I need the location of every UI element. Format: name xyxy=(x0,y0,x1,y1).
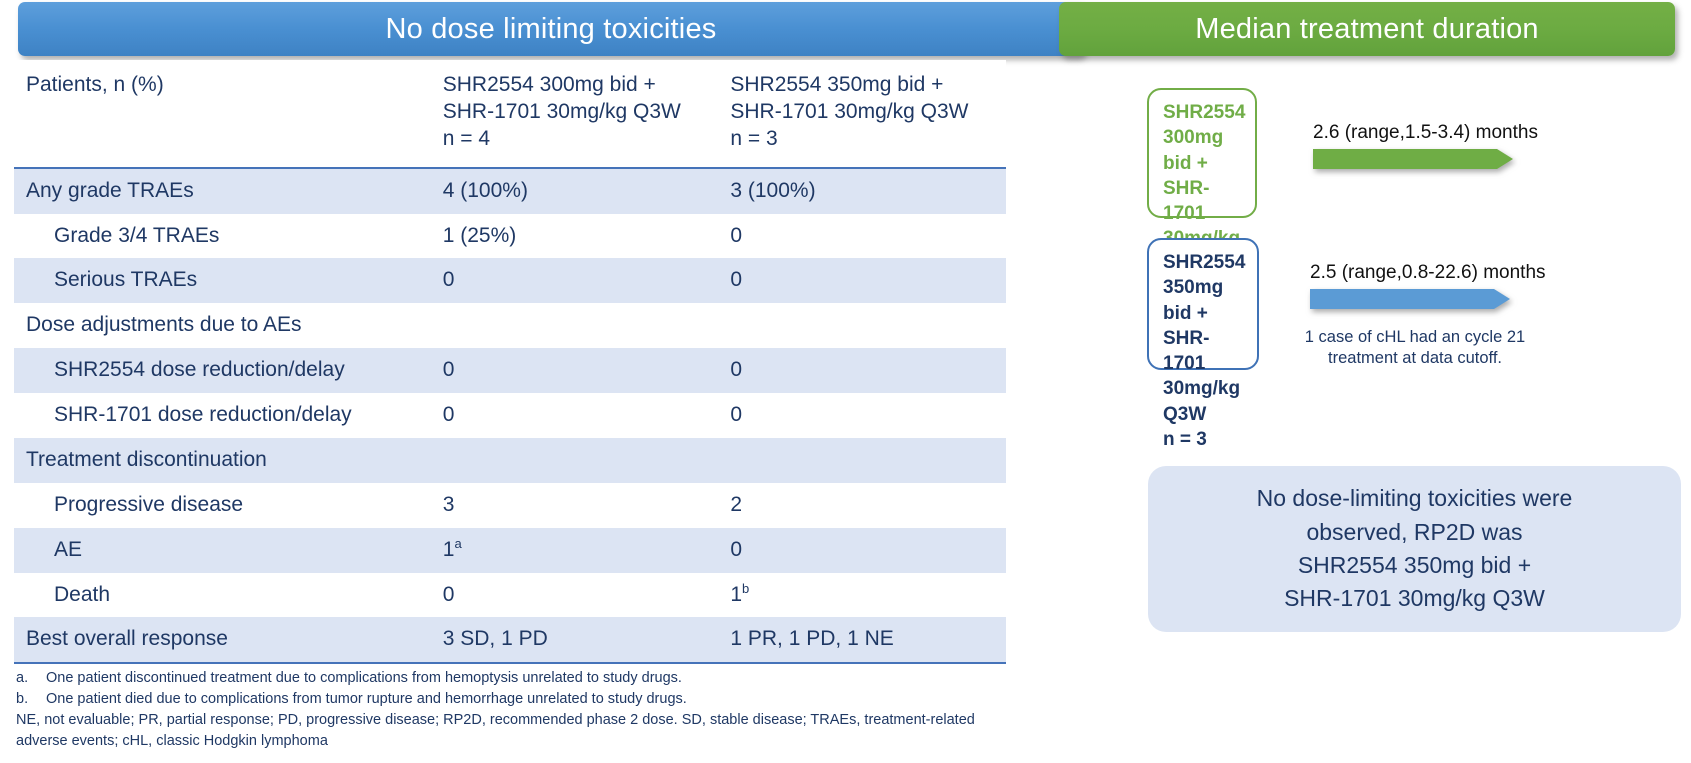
row-label: Best overall response xyxy=(14,617,431,663)
row-arm1: 0 xyxy=(431,393,719,438)
row-arm2 xyxy=(718,303,1006,348)
row-label: Grade 3/4 TRAEs xyxy=(14,214,431,259)
arm2-dose-box: SHR2554 350mg bid + SHR-1701 30mg/kg Q3W… xyxy=(1147,238,1259,370)
footnote-b-text: One patient died due to complications fr… xyxy=(46,689,687,710)
row-arm1: 3 xyxy=(431,483,719,528)
row-arm1: 1a xyxy=(431,528,719,573)
table-row: Death 0 1b xyxy=(14,573,1006,618)
row-arm1 xyxy=(431,438,719,483)
table-row: Serious TRAEs 0 0 xyxy=(14,258,1006,303)
slide-root: No dose limiting toxicities Median treat… xyxy=(0,0,1691,763)
table-col-label: Patients, n (%) xyxy=(14,60,431,168)
arm1-dose-line1: SHR2554 xyxy=(1163,100,1245,125)
row-label: SHR-1701 dose reduction/delay xyxy=(14,393,431,438)
conclusion-line3: SHR2554 350mg bid + xyxy=(1257,549,1573,582)
footnotes: a. One patient discontinued treatment du… xyxy=(16,668,1016,751)
row-arm2: 2 xyxy=(718,483,1006,528)
row-arm2: 1 PR, 1 PD, 1 NE xyxy=(718,617,1006,663)
row-arm1: 0 xyxy=(431,258,719,303)
table-col-arm1: SHR2554 300mg bid + SHR-1701 30mg/kg Q3W… xyxy=(431,60,719,168)
arm2-dose-line5: n = 3 xyxy=(1163,427,1247,452)
arm1-line3: n = 4 xyxy=(443,126,711,153)
table-row: SHR2554 dose reduction/delay 0 0 xyxy=(14,348,1006,393)
row-arm2: 0 xyxy=(718,348,1006,393)
row-label: Serious TRAEs xyxy=(14,258,431,303)
conclusion-text: No dose-limiting toxicities were observe… xyxy=(1257,482,1573,615)
right-panel-header: Median treatment duration xyxy=(1059,2,1675,56)
arm2-dose-line3: SHR-1701 xyxy=(1163,326,1247,377)
toxicity-table: Patients, n (%) SHR2554 300mg bid + SHR-… xyxy=(14,60,1006,664)
row-arm2: 0 xyxy=(718,214,1006,259)
table-row: Best overall response 3 SD, 1 PD 1 PR, 1… xyxy=(14,617,1006,663)
conclusion-line2: observed, RP2D was xyxy=(1257,516,1573,549)
row-label: Dose adjustments due to AEs xyxy=(14,303,431,348)
table-row: AE 1a 0 xyxy=(14,528,1006,573)
right-panel-title: Median treatment duration xyxy=(1195,13,1539,46)
row-label: AE xyxy=(14,528,431,573)
row-arm1 xyxy=(431,303,719,348)
conclusion-line1: No dose-limiting toxicities were xyxy=(1257,482,1573,515)
arm2-duration-note: 1 case of cHL had an cycle 21 treatment … xyxy=(1290,327,1540,370)
arm2-dose-line1: SHR2554 xyxy=(1163,250,1247,275)
footnote-a: a. One patient discontinued treatment du… xyxy=(16,668,1016,689)
row-arm1: 3 SD, 1 PD xyxy=(431,617,719,663)
footnote-a-marker: a. xyxy=(16,668,46,689)
arm1-line2: SHR-1701 30mg/kg Q3W xyxy=(443,99,711,126)
row-arm2: 0 xyxy=(718,528,1006,573)
row-arm2: 3 (100%) xyxy=(718,168,1006,214)
arm1-duration-label: 2.6 (range,1.5-3.4) months xyxy=(1313,122,1583,144)
table-row: SHR-1701 dose reduction/delay 0 0 xyxy=(14,393,1006,438)
row-arm1: 0 xyxy=(431,573,719,618)
conclusion-box: No dose-limiting toxicities were observe… xyxy=(1148,466,1681,632)
row-arm2: 1b xyxy=(718,573,1006,618)
row-label: Progressive disease xyxy=(14,483,431,528)
row-label: Treatment discontinuation xyxy=(14,438,431,483)
arm2-duration-label: 2.5 (range,0.8-22.6) months xyxy=(1310,262,1585,284)
arm2-line1: SHR2554 350mg bid + xyxy=(730,72,998,99)
arm1-duration-group: 2.6 (range,1.5-3.4) months xyxy=(1313,122,1583,169)
row-label: Any grade TRAEs xyxy=(14,168,431,214)
arm2-dose-line4: 30mg/kg Q3W xyxy=(1163,376,1247,427)
footnote-ref-a: a xyxy=(454,536,461,551)
footnote-ref-b: b xyxy=(742,581,749,596)
arm2-line2: SHR-1701 30mg/kg Q3W xyxy=(730,99,998,126)
left-panel-header: No dose limiting toxicities xyxy=(18,2,1084,56)
table-row: Grade 3/4 TRAEs 1 (25%) 0 xyxy=(14,214,1006,259)
row-arm1: 0 xyxy=(431,348,719,393)
row-label: Death xyxy=(14,573,431,618)
row-arm2 xyxy=(718,438,1006,483)
footnote-b-marker: b. xyxy=(16,689,46,710)
arm1-dose-line2: 300mg bid + xyxy=(1163,125,1245,176)
table-row: Progressive disease 3 2 xyxy=(14,483,1006,528)
table-row: Any grade TRAEs 4 (100%) 3 (100%) xyxy=(14,168,1006,214)
arm1-dose-box: SHR2554 300mg bid + SHR-1701 30mg/kg Q3W… xyxy=(1147,88,1257,218)
arm2-duration-group: 2.5 (range,0.8-22.6) months xyxy=(1310,262,1585,309)
arm2-line3: n = 3 xyxy=(730,126,998,153)
abbreviations-text: NE, not evaluable; PR, partial response;… xyxy=(16,710,1016,751)
conclusion-line4: SHR-1701 30mg/kg Q3W xyxy=(1257,582,1573,615)
table-header-row: Patients, n (%) SHR2554 300mg bid + SHR-… xyxy=(14,60,1006,168)
row-arm1: 4 (100%) xyxy=(431,168,719,214)
row-arm2: 0 xyxy=(718,393,1006,438)
arm1-line1: SHR2554 300mg bid + xyxy=(443,72,711,99)
table-row: Dose adjustments due to AEs xyxy=(14,303,1006,348)
arm1-dose-line3: SHR-1701 xyxy=(1163,176,1245,227)
arm1-duration-arrow-icon xyxy=(1313,149,1513,169)
table-col-arm2: SHR2554 350mg bid + SHR-1701 30mg/kg Q3W… xyxy=(718,60,1006,168)
arm2-duration-note-line2: treatment at data cutoff. xyxy=(1290,348,1540,369)
row-arm2-value: 1 xyxy=(730,583,742,606)
row-arm2: 0 xyxy=(718,258,1006,303)
footnote-a-text: One patient discontinued treatment due t… xyxy=(46,668,682,689)
arm2-duration-arrow-icon xyxy=(1310,289,1510,309)
arm2-dose-line2: 350mg bid + xyxy=(1163,275,1247,326)
row-arm1: 1 (25%) xyxy=(431,214,719,259)
row-label: SHR2554 dose reduction/delay xyxy=(14,348,431,393)
arm2-duration-note-line1: 1 case of cHL had an cycle 21 xyxy=(1290,327,1540,348)
footnote-b: b. One patient died due to complications… xyxy=(16,689,1016,710)
row-arm1-value: 1 xyxy=(443,538,455,561)
table-row: Treatment discontinuation xyxy=(14,438,1006,483)
left-panel-title: No dose limiting toxicities xyxy=(386,13,717,46)
